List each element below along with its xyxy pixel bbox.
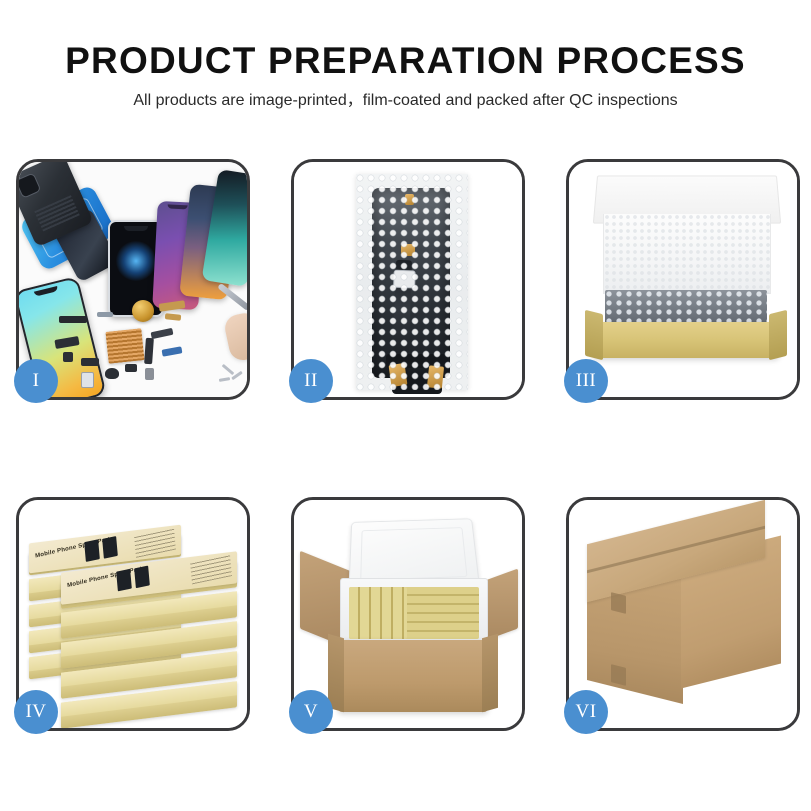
step-1-image xyxy=(19,162,247,397)
process-step-2: II xyxy=(291,159,525,400)
box-label-screen-3 xyxy=(116,569,132,592)
bubble-wrap-bag xyxy=(356,174,468,390)
taptic-part xyxy=(145,368,154,380)
gold-boxes-rows-side xyxy=(349,587,407,639)
flex-cable-dark-1 xyxy=(144,338,154,364)
hand xyxy=(223,311,247,362)
grey-bubble-padding xyxy=(605,290,767,326)
box-label-screen-1 xyxy=(84,539,100,562)
blue-flex-part xyxy=(162,346,183,356)
step-badge-5: V xyxy=(289,690,333,734)
step-5-image xyxy=(294,500,522,728)
foam-liner xyxy=(603,214,771,294)
box-label-spec-lines-2 xyxy=(190,554,232,584)
header: PRODUCT PREPARATION PROCESS All products… xyxy=(0,0,811,109)
small-metal-part xyxy=(97,312,113,317)
step-badge-1: I xyxy=(14,359,58,403)
step-badge-2: II xyxy=(289,359,333,403)
step-badge-4: IV xyxy=(14,690,58,734)
foam-texture xyxy=(604,214,770,294)
step-3-image xyxy=(569,162,797,397)
connector-chip-2 xyxy=(63,352,73,362)
screw-1 xyxy=(222,364,235,375)
flex-cable-gold-2 xyxy=(165,313,182,321)
process-step-4: Mobile Phone Spare Parts Mobile Phone Sp… xyxy=(16,497,250,731)
connector-chip-4 xyxy=(125,364,137,372)
page-title: PRODUCT PREPARATION PROCESS xyxy=(0,42,811,79)
flex-cable-dark-2 xyxy=(151,328,174,339)
process-step-6: VI xyxy=(566,497,800,731)
process-step-1: I xyxy=(16,159,250,400)
box-label-screen-2 xyxy=(102,536,118,559)
carton-body xyxy=(338,640,488,712)
carton-tape-lower xyxy=(611,664,626,686)
step-6-image xyxy=(569,500,797,728)
home-button-part xyxy=(132,300,154,322)
process-step-5: V xyxy=(291,497,525,731)
bubble-wrap-texture xyxy=(356,174,468,390)
speaker-part xyxy=(105,368,119,379)
copper-mesh-part xyxy=(105,328,144,364)
box-stacks: Mobile Phone Spare Parts Mobile Phone Sp… xyxy=(27,526,245,712)
product-preparation-infographic: PRODUCT PREPARATION PROCESS All products… xyxy=(0,0,811,811)
step-badge-3: III xyxy=(564,359,608,403)
process-step-grid: I II xyxy=(16,159,795,731)
step-2-image xyxy=(294,162,522,397)
step-badge-6: VI xyxy=(564,690,608,734)
gold-box-base xyxy=(593,322,779,358)
sim-tray-part xyxy=(81,372,94,388)
box-label-screen-4 xyxy=(134,566,150,589)
screw-3 xyxy=(219,377,230,382)
box-label-spec-lines xyxy=(134,528,176,558)
earpiece-part xyxy=(59,316,87,323)
process-step-3: III xyxy=(566,159,800,400)
step-4-image: Mobile Phone Spare Parts Mobile Phone Sp… xyxy=(19,500,247,728)
carton-tape-upper xyxy=(611,592,626,614)
connector-chip-3 xyxy=(81,358,99,366)
page-subtitle: All products are image-printed，film-coat… xyxy=(0,93,811,109)
